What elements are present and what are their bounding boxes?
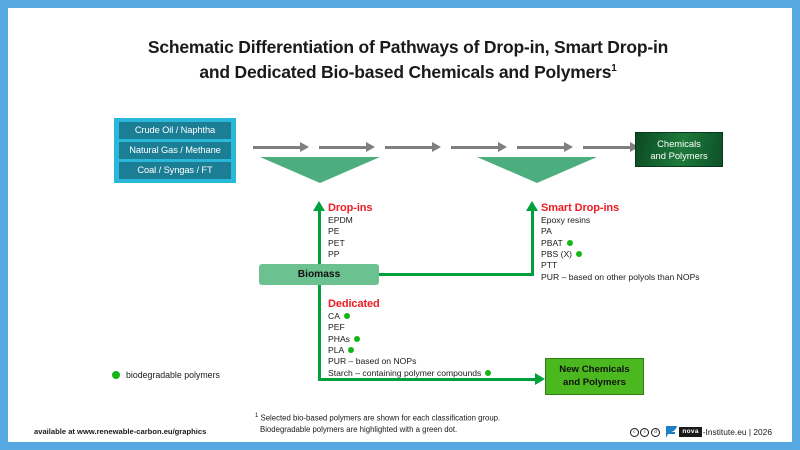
footnote-line-2: Biodegradable polymers are highlighted w…: [255, 424, 500, 435]
list-item: Epoxy resins: [541, 215, 700, 226]
cc-nd-icon: d: [651, 428, 660, 437]
feedstock-item-crude-oil: Crude Oil / Naphtha: [119, 122, 231, 139]
list-item: PLA: [328, 345, 491, 356]
feedstock-item-natural-gas: Natural Gas / Methane: [119, 142, 231, 159]
drop-ins-list: EPDM PE PET PP: [328, 215, 372, 260]
list-item: PBAT: [541, 238, 700, 249]
list-item: PA: [541, 226, 700, 237]
credit-text: -Institute.eu | 2026: [703, 427, 772, 437]
refinery-funnel-1: [260, 157, 380, 183]
new-chemicals-box-line-1: New Chemicals: [559, 364, 629, 375]
credit-block: c i d nova -Institute.eu | 2026: [630, 425, 772, 439]
legend: biodegradable polymers: [112, 370, 220, 380]
connector-smart-drop-ins-vertical: [531, 211, 534, 276]
dedicated-list: CA PEF PHAs PLA PUR – based on NOPs Star…: [328, 311, 491, 379]
availability-text: available at www.renewable-carbon.eu/gra…: [34, 427, 206, 436]
process-arrow-6: [583, 142, 639, 153]
legend-biodegradable-dot-icon: [112, 371, 120, 379]
list-item: PHAs: [328, 334, 491, 345]
legend-label: biodegradable polymers: [126, 370, 220, 380]
list-item: PBS (X): [541, 249, 700, 260]
list-item: PEF: [328, 322, 491, 333]
cc-circle-icon: c: [630, 428, 639, 437]
process-arrow-1: [253, 142, 309, 153]
title-line-2: and Dedicated Bio-based Chemicals and Po…: [199, 62, 611, 82]
category-drop-ins-heading: Drop-ins: [328, 202, 372, 214]
feedstock-item-coal: Coal / Syngas / FT: [119, 162, 231, 179]
page-title: Schematic Differentiation of Pathways of…: [68, 35, 748, 85]
cc-by-icon: i: [640, 428, 649, 437]
biodegradable-dot: [576, 251, 582, 257]
list-item: EPDM: [328, 215, 372, 226]
nova-institute-logo-icon: [665, 425, 678, 439]
biodegradable-dot: [354, 336, 360, 342]
title-line-1: Schematic Differentiation of Pathways of…: [148, 37, 668, 57]
biodegradable-dot: [567, 240, 573, 246]
process-arrow-3: [385, 142, 441, 153]
process-arrow-4: [451, 142, 507, 153]
biodegradable-dot: [348, 347, 354, 353]
list-item: PP: [328, 249, 372, 260]
refinery-funnel-2: [477, 157, 597, 183]
connector-smart-drop-ins-horizontal: [376, 273, 534, 276]
process-arrow-5: [517, 142, 573, 153]
biodegradable-dot: [485, 370, 491, 376]
category-drop-ins: Drop-ins EPDM PE PET PP: [328, 202, 372, 260]
new-chemicals-and-polymers-box: New Chemicals and Polymers: [545, 358, 644, 395]
category-smart-drop-ins: Smart Drop-ins Epoxy resins PA PBAT PBS …: [541, 202, 700, 283]
connector-new-chemicals-horizontal: [318, 378, 536, 381]
connector-drop-ins-arrowhead: [313, 201, 325, 211]
slide-canvas: Schematic Differentiation of Pathways of…: [0, 0, 800, 450]
list-item: PE: [328, 226, 372, 237]
category-smart-drop-ins-heading: Smart Drop-ins: [541, 202, 700, 214]
biomass-box: Biomass: [259, 264, 379, 285]
footnote: 1 Selected bio-based polymers are shown …: [255, 412, 500, 435]
smart-drop-ins-list: Epoxy resins PA PBAT PBS (X) PTT PUR – b…: [541, 215, 700, 283]
title-footnote-marker: 1: [611, 63, 616, 74]
list-item: PTT: [541, 260, 700, 271]
footnote-line-1: Selected bio-based polymers are shown fo…: [261, 414, 501, 423]
creative-commons-icons: c i d: [630, 428, 662, 437]
chemicals-box-line-2: and Polymers: [650, 150, 707, 161]
category-dedicated-heading: Dedicated: [328, 298, 491, 310]
connector-smart-drop-ins-arrowhead: [526, 201, 538, 211]
footnote-marker: 1: [255, 413, 258, 419]
chemicals-box-line-1: Chemicals: [657, 138, 701, 149]
nova-wordmark: nova: [679, 427, 701, 437]
category-dedicated: Dedicated CA PEF PHAs PLA PUR – based on…: [328, 298, 491, 379]
process-arrow-2: [319, 142, 375, 153]
chemicals-and-polymers-box: Chemicals and Polymers: [635, 132, 723, 167]
list-item: PUR – based on other polyols than NOPs: [541, 272, 700, 283]
biodegradable-dot: [344, 313, 350, 319]
list-item: PUR – based on NOPs: [328, 356, 491, 367]
new-chemicals-box-line-2: and Polymers: [563, 377, 626, 388]
feedstock-group: Crude Oil / Naphtha Natural Gas / Methan…: [114, 118, 236, 183]
connector-new-chemicals-arrowhead: [535, 373, 545, 385]
list-item: CA: [328, 311, 491, 322]
list-item: PET: [328, 238, 372, 249]
connector-dedicated-vertical: [318, 278, 321, 381]
